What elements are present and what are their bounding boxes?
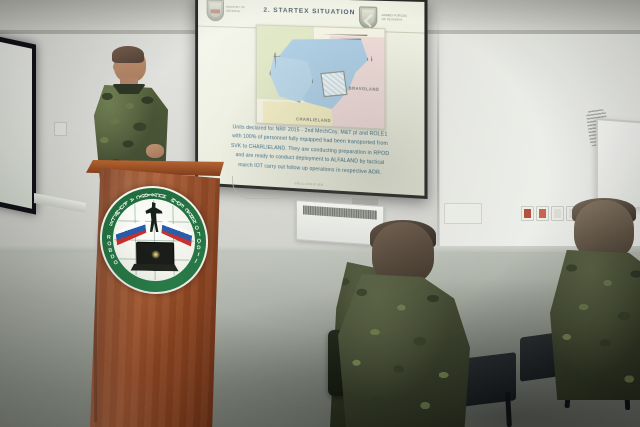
camouflage-pattern — [550, 250, 640, 400]
emblem-char: V — [150, 193, 156, 197]
soldier-middle-uniform — [550, 250, 640, 400]
emblem-char: O — [174, 199, 181, 206]
projection-screen: MINISTRY OF DEFENCE ARMED FORCES OF SLOV… — [195, 0, 427, 199]
presentation-slide: MINISTRY OF DEFENCE ARMED FORCES OF SLOV… — [198, 0, 424, 196]
presenter-hair — [112, 46, 144, 63]
emblem-char: A — [144, 193, 150, 197]
wall-socket-1[interactable] — [521, 206, 534, 221]
emblem-char: V — [137, 194, 144, 199]
wall-socket-left[interactable] — [54, 122, 67, 136]
emblem-char: Ú — [157, 193, 164, 198]
left-window — [0, 31, 36, 214]
presenter-ear — [113, 63, 119, 71]
map-region-hatched — [320, 71, 347, 97]
soldier-front-uniform — [338, 274, 470, 427]
slide-map: BRAVOLAND CHARLIELAND — [256, 24, 386, 129]
projector-cable — [232, 176, 281, 199]
window-glass — [0, 37, 32, 208]
emblem-char: C — [109, 217, 115, 224]
briefing-room-photo: MINISTRY OF DEFENCE ARMED FORCES OF SLOV… — [0, 0, 640, 427]
camouflage-pattern — [338, 274, 470, 427]
slide-body-text: Units declared for NRF 2015 - 2nd MechCo… — [207, 122, 416, 180]
presenter-hand — [146, 144, 164, 158]
wall-socket-2[interactable] — [536, 206, 549, 221]
wall-panel — [444, 203, 482, 224]
unit-emblem: ODBOR SIMULAČNÝCH TECHNOLÓGIÍ RS OM ÚVAV… — [99, 185, 209, 295]
emblem-char: R — [189, 213, 195, 220]
emblem-text-bottom: RS OM ÚVAV ČTSC — [99, 185, 209, 295]
seated-soldier-front — [338, 222, 470, 427]
seated-soldier-middle — [550, 200, 640, 400]
radiator-grill — [303, 205, 377, 219]
soldier-front-head — [372, 222, 434, 284]
